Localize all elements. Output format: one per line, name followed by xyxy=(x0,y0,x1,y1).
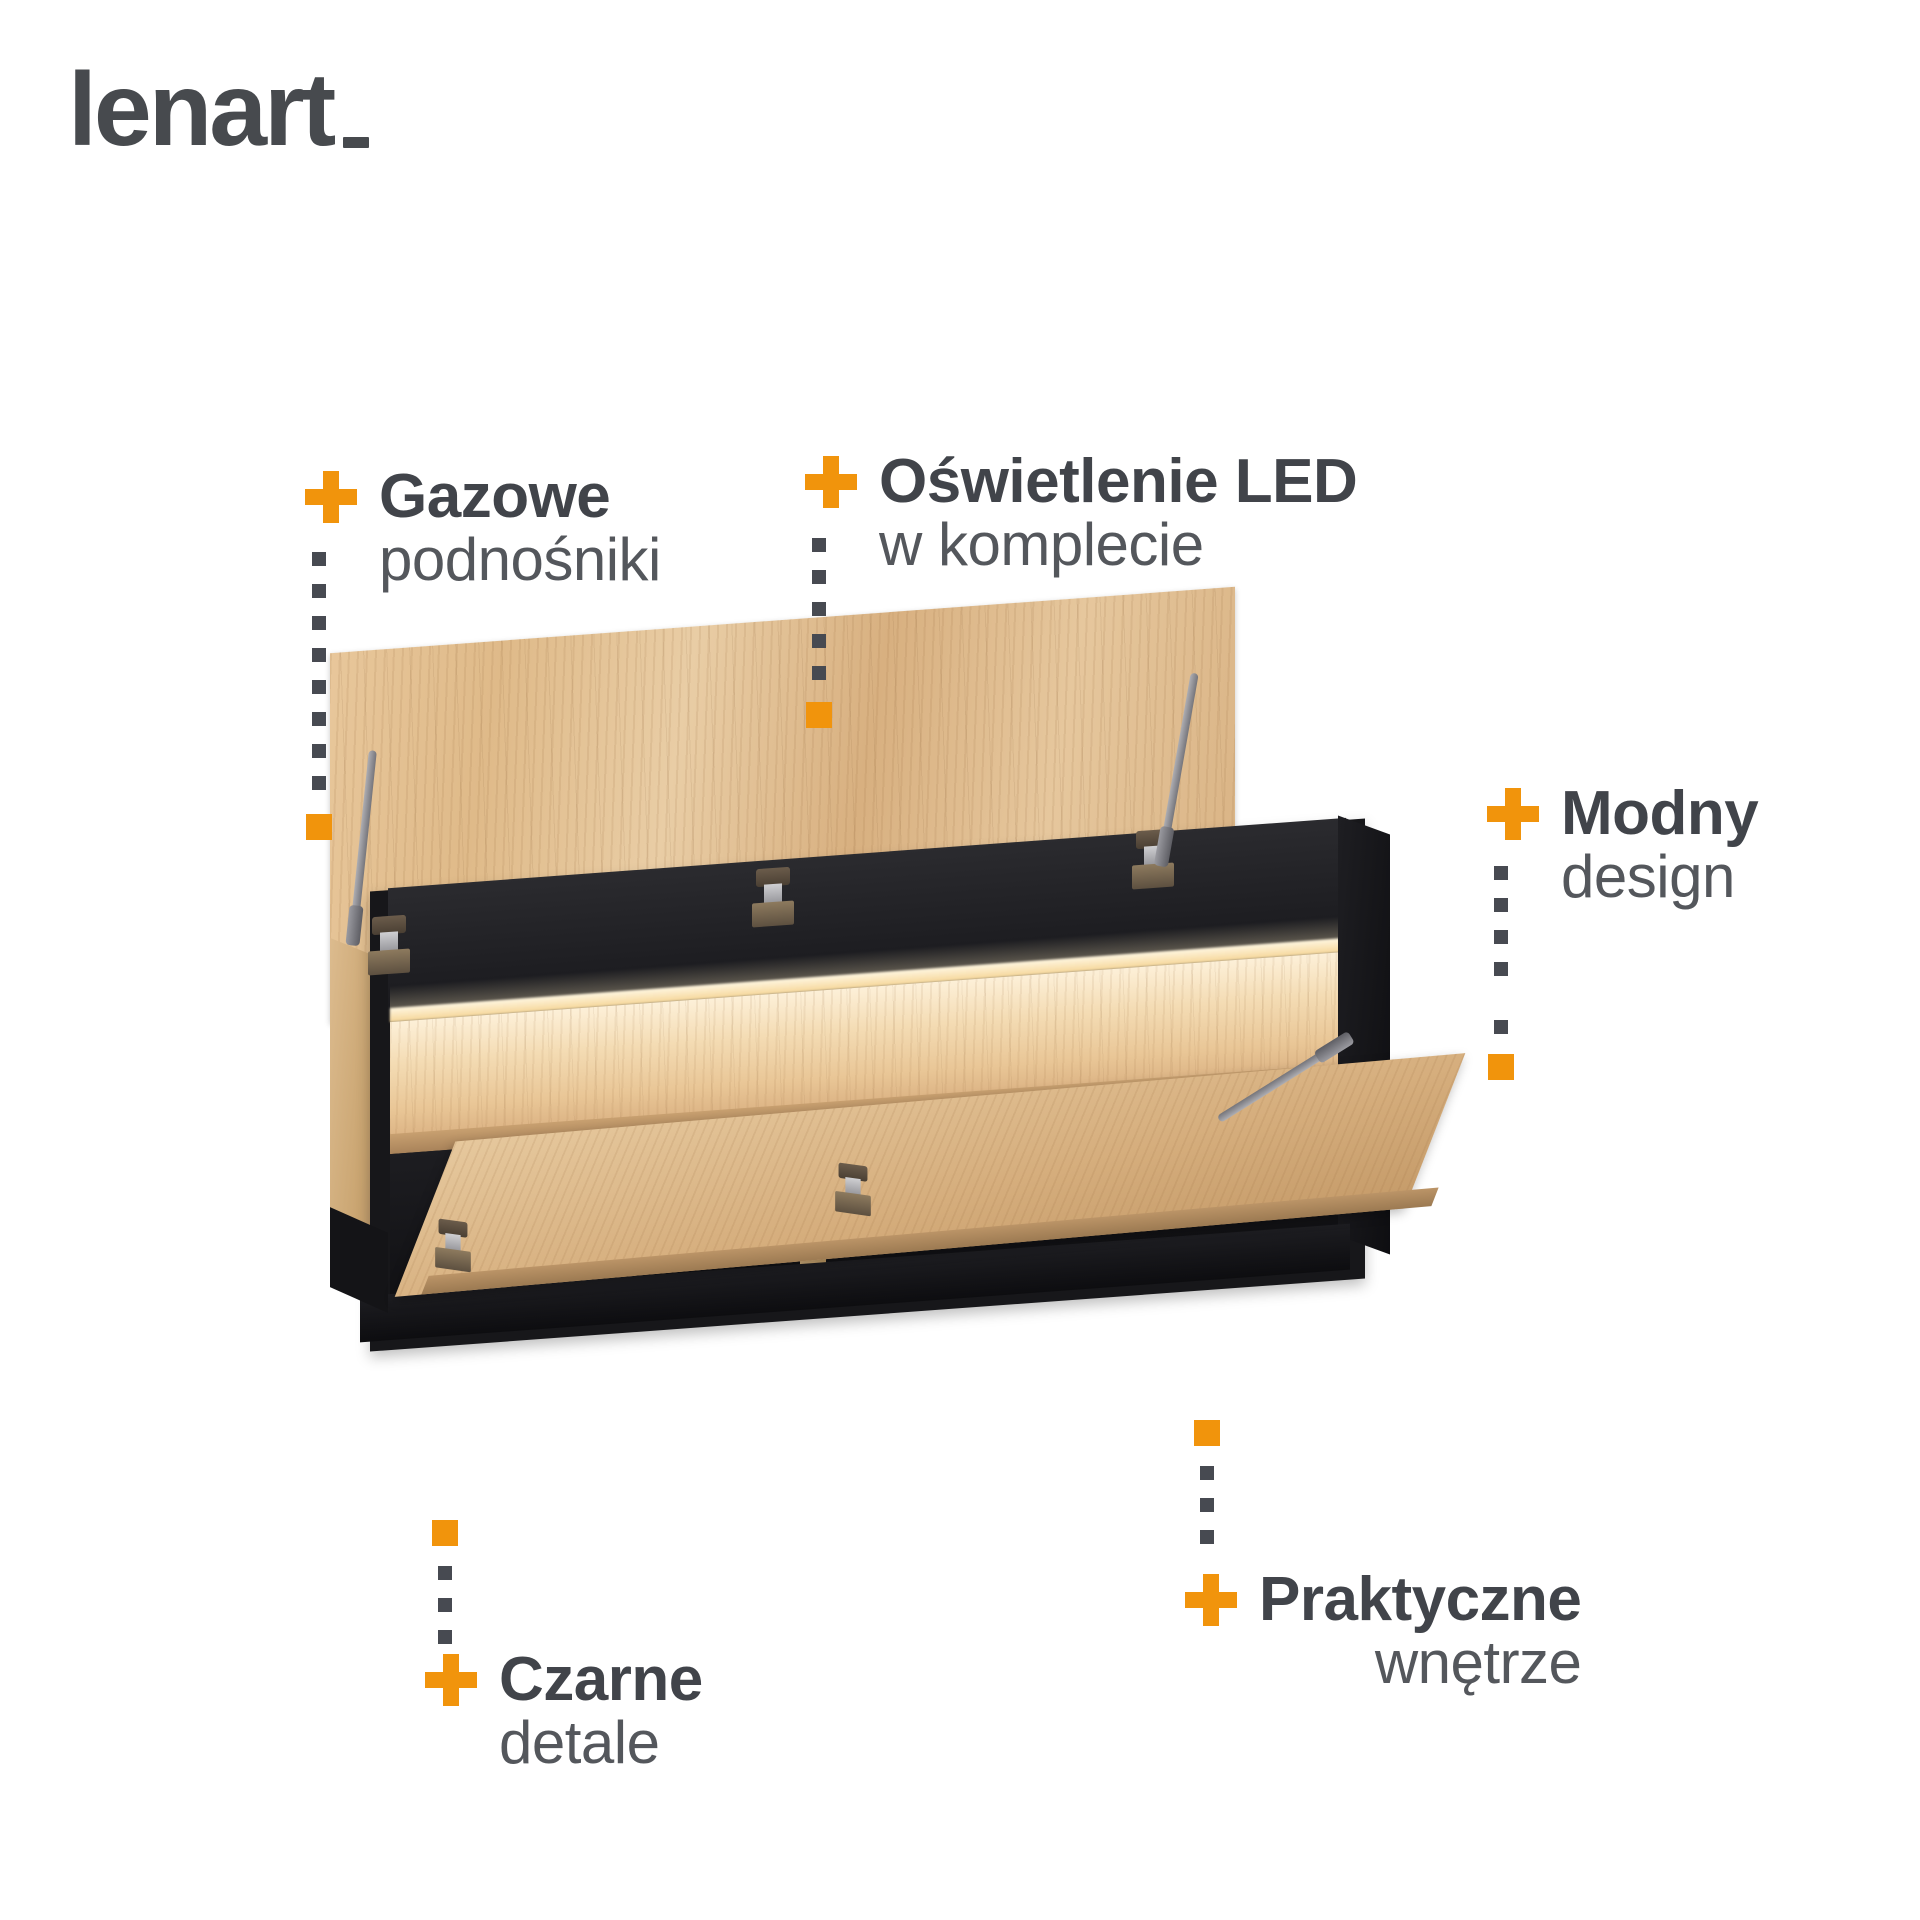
leader-line-praktyczne xyxy=(1200,1420,1214,1570)
callout-led-subtitle: w komplecie xyxy=(879,513,1357,576)
callout-led-title: Oświetlenie LED xyxy=(879,450,1357,513)
callout-czarne-line1-row: Czarne xyxy=(425,1648,703,1711)
hinge-icon xyxy=(433,1218,472,1274)
hinge-icon xyxy=(750,866,796,929)
callout-praktyczne-subtitle: wnętrze xyxy=(1259,1631,1581,1694)
callout-gazowe: Gazowe podnośniki xyxy=(305,465,661,591)
brand-logo-underscore-icon xyxy=(343,137,369,148)
hinge-plate xyxy=(835,1191,871,1216)
plus-icon xyxy=(1487,788,1539,840)
callout-led: Oświetlenie LED w komplecie xyxy=(805,450,1357,576)
infographic-canvas: lenart xyxy=(0,0,1920,1920)
hinge-icon xyxy=(833,1162,872,1218)
plus-icon xyxy=(805,456,857,508)
callout-led-line1-row: Oświetlenie LED xyxy=(805,450,1357,513)
callout-design: Modny design xyxy=(1487,782,1758,908)
leader-line-czarne xyxy=(438,1520,452,1650)
leader-line-led xyxy=(812,538,826,758)
callout-praktyczne-line1-row: Praktyczne xyxy=(1185,1568,1581,1631)
callout-design-line1-row: Modny xyxy=(1487,782,1758,845)
hinge-plate xyxy=(368,949,410,976)
hinge-plate xyxy=(435,1247,471,1272)
callout-gazowe-subtitle: podnośniki xyxy=(379,528,661,591)
plus-icon xyxy=(425,1654,477,1706)
callout-praktyczne: Praktyczne wnętrze xyxy=(1185,1568,1581,1694)
hinge-icon xyxy=(366,914,412,977)
hinge-plate xyxy=(1132,863,1174,890)
callout-czarne-title: Czarne xyxy=(499,1648,703,1711)
callout-czarne-subtitle: detale xyxy=(499,1711,703,1774)
callout-czarne: Czarne detale xyxy=(425,1648,703,1774)
product-image xyxy=(330,620,1630,1620)
callout-gazowe-line1-row: Gazowe xyxy=(305,465,661,528)
hinge-plate xyxy=(752,901,794,928)
plus-icon xyxy=(1185,1574,1237,1626)
callout-design-subtitle: design xyxy=(1561,845,1758,908)
leader-line-design-end xyxy=(1494,1020,1508,1080)
leader-line-gazowe xyxy=(312,552,326,882)
brand-logo: lenart xyxy=(68,58,369,162)
callout-design-title: Modny xyxy=(1561,782,1758,845)
callout-gazowe-title: Gazowe xyxy=(379,465,610,528)
brand-logo-text: lenart xyxy=(68,58,333,162)
callout-praktyczne-title: Praktyczne xyxy=(1259,1568,1581,1631)
leader-line-design xyxy=(1494,866,1508,1046)
plus-icon xyxy=(305,471,357,523)
